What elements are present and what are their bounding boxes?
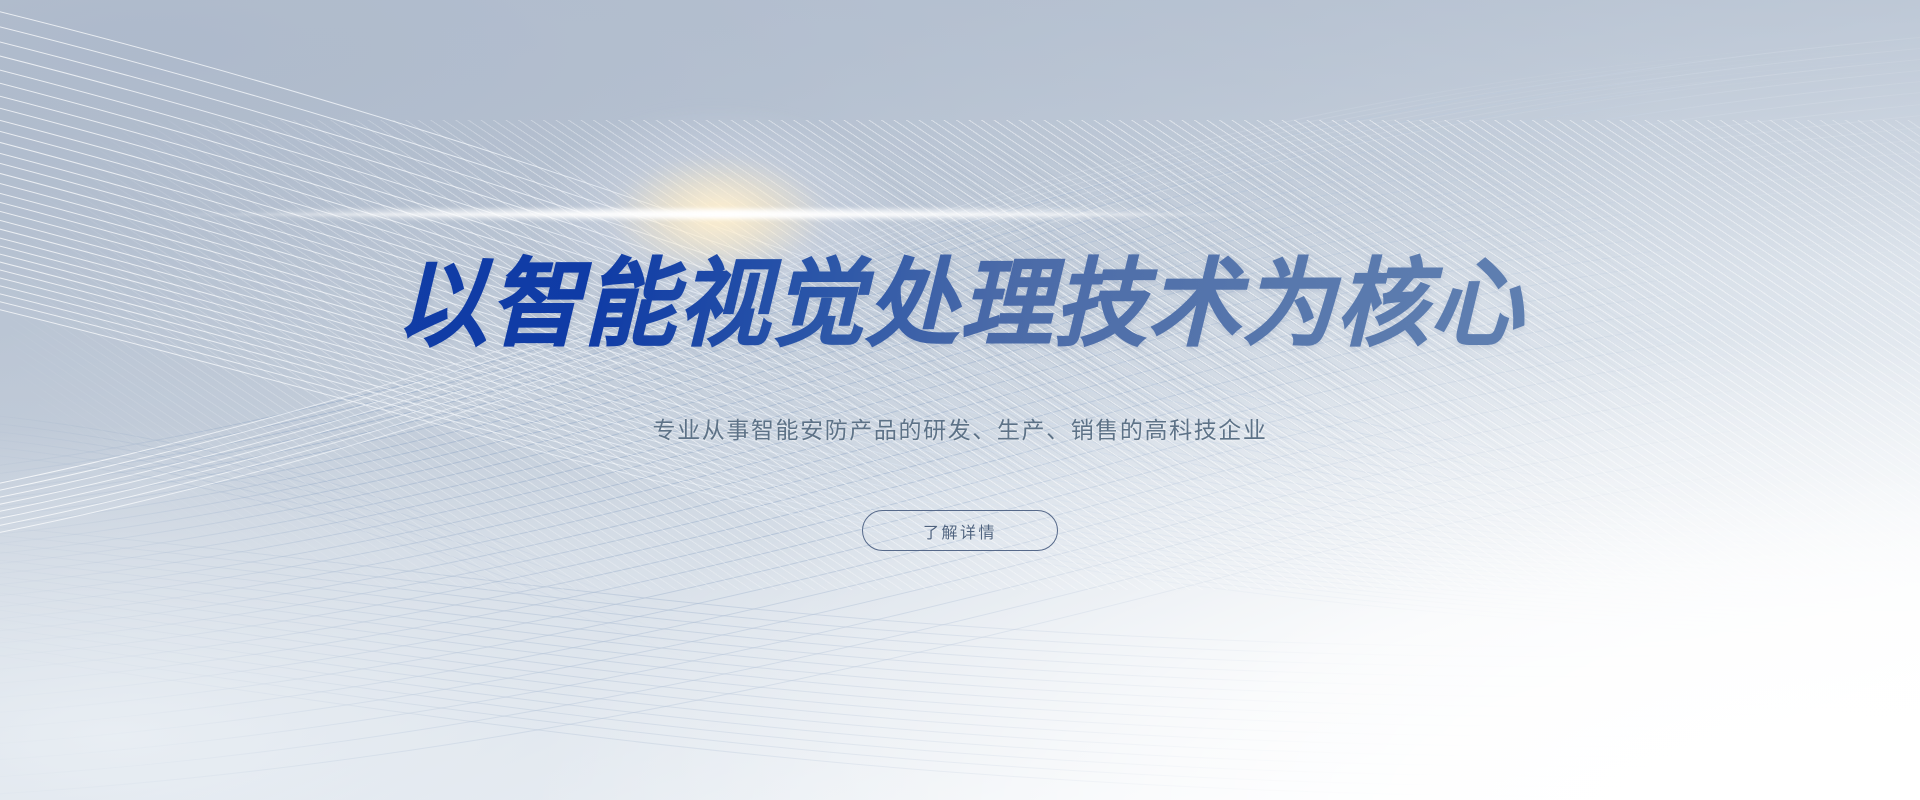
- hero-headline: 以智能视觉处理技术为核心: [38, 250, 1881, 358]
- learn-more-button[interactable]: 了解详情: [862, 510, 1058, 551]
- hero-subtitle: 专业从事智能安防产品的研发、生产、销售的高科技企业: [0, 414, 1920, 448]
- hero-cta-container: 了解详情: [0, 510, 1920, 551]
- hero-content: 以智能视觉处理技术为核心 专业从事智能安防产品的研发、生产、销售的高科技企业 了…: [0, 0, 1920, 800]
- hero-banner: 以智能视觉处理技术为核心 专业从事智能安防产品的研发、生产、销售的高科技企业 了…: [0, 0, 1920, 800]
